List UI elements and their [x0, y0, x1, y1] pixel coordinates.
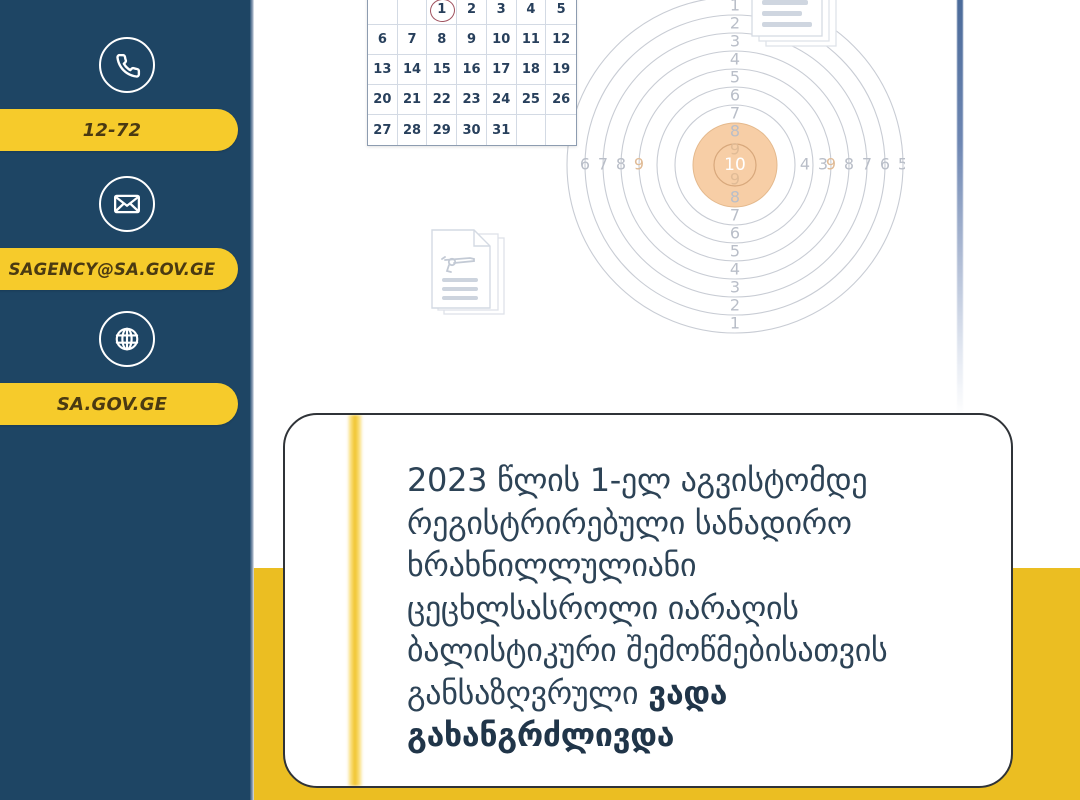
calendar-day-cell[interactable]: 13	[368, 55, 398, 85]
calendar-day-cell[interactable]: 9	[457, 25, 487, 55]
calendar-blank-cell	[368, 0, 398, 25]
svg-text:2: 2	[730, 296, 740, 315]
calendar-day-cell[interactable]: 25	[517, 85, 547, 115]
svg-text:7: 7	[730, 206, 740, 225]
envelope-icon	[99, 176, 155, 232]
calendar-day-cell[interactable]: 15	[427, 55, 457, 85]
calendar-day-cell[interactable]: 10	[487, 25, 517, 55]
calendar-day-cell[interactable]: 5	[546, 0, 576, 25]
announcement-line-1: 2023 წლის 1-ელ აგვისტომდე	[407, 459, 983, 502]
svg-text:5: 5	[730, 242, 740, 261]
svg-text:7: 7	[862, 155, 872, 174]
calendar-day-cell[interactable]: 8	[427, 25, 457, 55]
calendar-day-cell[interactable]: 17	[487, 55, 517, 85]
announcement-line-4: ცეცხლსასროლი იარაღის	[407, 587, 983, 630]
announcement-line-6-bold: ვადა	[648, 674, 727, 712]
calendar-blank-cell	[398, 0, 428, 25]
calendar-day-cell[interactable]: 7	[398, 25, 428, 55]
announcement-line-5: ბალისტიკური შემოწმებისათვის	[407, 629, 983, 672]
calendar-day-cell[interactable]: 18	[517, 55, 547, 85]
email-pill-button[interactable]: SAGENCY@SA.GOV.GE	[0, 248, 238, 290]
calendar-day-cell[interactable]: 26	[546, 85, 576, 115]
announcement-line-6-prefix: განსაზღვრული	[407, 674, 648, 712]
right-blue-accent-line	[957, 0, 963, 416]
calendar-day-cell[interactable]: 22	[427, 85, 457, 115]
calendar-day-cell[interactable]: 6	[368, 25, 398, 55]
svg-text:2: 2	[730, 14, 740, 33]
calendar-blank-cell	[546, 115, 576, 145]
svg-text:8: 8	[616, 155, 626, 174]
svg-text:4: 4	[800, 155, 810, 174]
calendar-day-cell[interactable]: 3	[487, 0, 517, 25]
svg-text:5: 5	[730, 68, 740, 87]
svg-text:1: 1	[730, 0, 740, 15]
contact-block-website: SA.GOV.GE	[0, 311, 253, 425]
calendar-day-cell[interactable]: 23	[457, 85, 487, 115]
announcement-line-7: გახანგრძლივდა	[407, 714, 983, 757]
svg-text:5: 5	[898, 155, 905, 174]
calendar-day-cell[interactable]: 31	[487, 115, 517, 145]
calendar-day-cell[interactable]: 11	[517, 25, 547, 55]
calendar-day-cell[interactable]: 4	[517, 0, 547, 25]
calendar-day-cell[interactable]: 30	[457, 115, 487, 145]
shooting-target-graphic: 1 2 3 4 5 6 7 8 9 9 8 7 6 5 4 3 2 1 6 7	[565, 0, 905, 335]
card-yellow-accent-bar	[347, 415, 363, 786]
phone-number-label: 12-72	[83, 120, 142, 141]
calendar-day-cell[interactable]: 19	[546, 55, 576, 85]
calendar-day-cell[interactable]: 16	[457, 55, 487, 85]
email-address-label: SAGENCY@SA.GOV.GE	[9, 260, 216, 279]
svg-text:8: 8	[844, 155, 854, 174]
calendar-day-cell[interactable]: 21	[398, 85, 428, 115]
svg-text:6: 6	[580, 155, 590, 174]
svg-text:1: 1	[730, 314, 740, 333]
poster-canvas: 12-72 SAGENCY@SA.GOV.GE S	[0, 0, 1080, 800]
svg-text:3: 3	[818, 155, 828, 174]
phone-pill-button[interactable]: 12-72	[0, 109, 238, 151]
calendar-widget[interactable]: ორშ. სამშ. ოთხ. ხუთ. პარ. შაბ. კვ. 12345…	[367, 0, 577, 146]
announcement-card: 2023 წლის 1-ელ აგვისტომდე რეგისტრირებული…	[283, 413, 1013, 788]
website-pill-button[interactable]: SA.GOV.GE	[0, 383, 238, 425]
svg-text:8: 8	[730, 188, 740, 207]
svg-text:6: 6	[730, 86, 740, 105]
calendar-day-cell[interactable]: 27	[368, 115, 398, 145]
calendar-day-marked[interactable]: 1	[427, 0, 457, 25]
calendar-day-cell[interactable]: 24	[487, 85, 517, 115]
svg-text:6: 6	[880, 155, 890, 174]
svg-text:4: 4	[730, 260, 740, 279]
phone-icon	[99, 37, 155, 93]
calendar-day-cell[interactable]: 12	[546, 25, 576, 55]
svg-text:3: 3	[730, 32, 740, 51]
calendar-day-cell[interactable]: 2	[457, 0, 487, 25]
calendar-day-cell[interactable]: 29	[427, 115, 457, 145]
svg-text:8: 8	[730, 122, 740, 141]
announcement-line-2: რეგისტრირებული სანადირო	[407, 502, 983, 545]
svg-text:6: 6	[730, 224, 740, 243]
svg-text:10: 10	[724, 155, 746, 175]
globe-icon	[99, 311, 155, 367]
revolver-document-icon	[430, 228, 516, 320]
svg-text:4: 4	[730, 50, 740, 69]
calendar-day-cell[interactable]: 20	[368, 85, 398, 115]
announcement-text: 2023 წლის 1-ელ აგვისტომდე რეგისტრირებული…	[407, 459, 983, 757]
svg-text:9: 9	[634, 155, 644, 174]
calendar-day-grid[interactable]: 1234567891011121314151617181920212223242…	[368, 0, 576, 145]
calendar-day-cell[interactable]: 28	[398, 115, 428, 145]
svg-text:7: 7	[730, 104, 740, 123]
calendar-day-cell[interactable]: 14	[398, 55, 428, 85]
rifle-document-icon	[748, 0, 853, 75]
contact-block-phone: 12-72	[0, 37, 253, 151]
announcement-line-3: ხრახნილლულიანი	[407, 544, 983, 587]
contact-block-email: SAGENCY@SA.GOV.GE	[0, 176, 253, 290]
svg-text:3: 3	[730, 278, 740, 297]
website-url-label: SA.GOV.GE	[57, 394, 167, 415]
calendar-blank-cell	[517, 115, 547, 145]
svg-text:7: 7	[598, 155, 608, 174]
announcement-line-6: განსაზღვრული ვადა	[407, 672, 983, 715]
